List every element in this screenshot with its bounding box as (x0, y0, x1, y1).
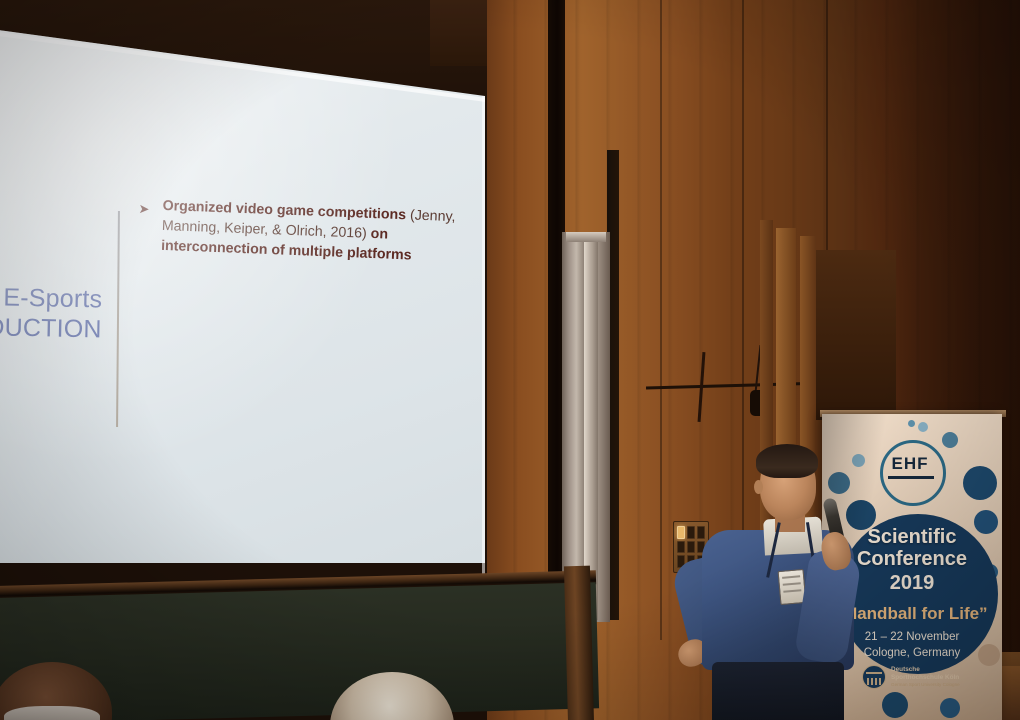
ehf-logo-underline (888, 476, 934, 479)
university-logo: Deutsche Sporthochschule Köln German Spo… (862, 664, 966, 690)
slide-bullet-text: Organized video game competitions (Jenny… (161, 197, 469, 268)
banner-dot (908, 420, 915, 427)
slide-title-line1: E-Sports (3, 284, 102, 314)
banner-dot (942, 432, 958, 448)
slide-bullet-block: ➤ Organized video game competitions (Jen… (137, 196, 469, 268)
audience-collar (4, 706, 100, 720)
slide-divider-line (116, 211, 120, 427)
slide-title: E-Sports DUCTION (0, 283, 103, 345)
presenter-ear (754, 480, 763, 494)
chalkboard-right-frame (564, 566, 594, 720)
university-name-sub: German Sport University Cologne (891, 682, 960, 688)
presentation-slide: E-Sports DUCTION ➤ Organized video game … (0, 18, 490, 563)
university-name-line1: Deutsche (891, 666, 960, 674)
wall-panel-seam (660, 0, 662, 640)
slide-title-line2: DUCTION (0, 312, 102, 344)
presenter-hair (756, 444, 818, 478)
presentation-photo-scene: E-Sports DUCTION ➤ Organized video game … (0, 0, 1020, 720)
presenter-trousers (712, 662, 844, 720)
banner-dot (918, 422, 928, 432)
ehf-logo-text: EHF (880, 454, 940, 474)
university-name-line2: Sporthochschule Köln (891, 674, 960, 682)
banner-dot (882, 692, 908, 718)
arrow-bullet-icon: ➤ (138, 202, 149, 215)
banner-dot (940, 698, 960, 718)
metal-pillar-cap (566, 232, 606, 242)
university-crest-icon (862, 665, 886, 689)
projection-screen: E-Sports DUCTION ➤ Organized video game … (0, 18, 490, 563)
university-logo-text: Deutsche Sporthochschule Köln German Spo… (891, 666, 960, 688)
banner-dot (963, 466, 997, 500)
presenter (676, 440, 856, 720)
door-frame (816, 250, 896, 420)
metal-pillar-highlight (584, 236, 598, 620)
